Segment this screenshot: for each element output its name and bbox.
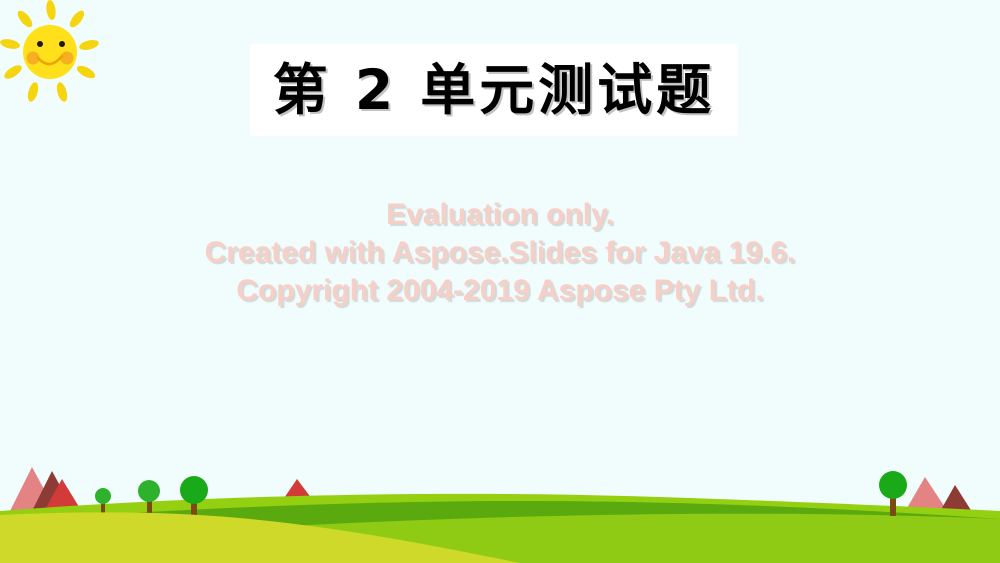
watermark-line-2: Created with Aspose.Slides for Java 19.6… — [0, 234, 1000, 272]
sun-ray — [15, 8, 35, 29]
sun-eye-right — [59, 41, 65, 47]
landscape-illustration — [0, 453, 1000, 563]
title-box: 第 2 单元测试题 — [250, 44, 738, 136]
aspose-evaluation-watermark: Evaluation only. Created with Aspose.Sli… — [0, 196, 1000, 310]
sun-ray — [45, 0, 57, 21]
sun-ray — [67, 8, 86, 29]
sun-illustration — [0, 0, 110, 108]
tree-1-canopy — [95, 488, 111, 504]
watermark-line-3: Copyright 2004-2019 Aspose Pty Ltd. — [0, 272, 1000, 310]
sun-cheek-right — [61, 52, 74, 65]
slide-canvas: 第 2 单元测试题 Evaluation only. Created with … — [0, 0, 1000, 563]
page-title: 第 2 单元测试题 — [273, 63, 716, 118]
tree-3-canopy — [180, 476, 208, 504]
sun-eye-left — [37, 41, 43, 47]
sun-ray — [75, 63, 97, 80]
sun-ray — [78, 38, 100, 52]
sun-ray — [26, 81, 40, 103]
watermark-line-1: Evaluation only. — [0, 196, 1000, 234]
sun-ray — [2, 63, 24, 82]
sun-ray — [55, 81, 69, 103]
tree-2-canopy — [138, 480, 160, 502]
tree-4-canopy — [879, 471, 907, 499]
sun-ray — [0, 38, 21, 51]
